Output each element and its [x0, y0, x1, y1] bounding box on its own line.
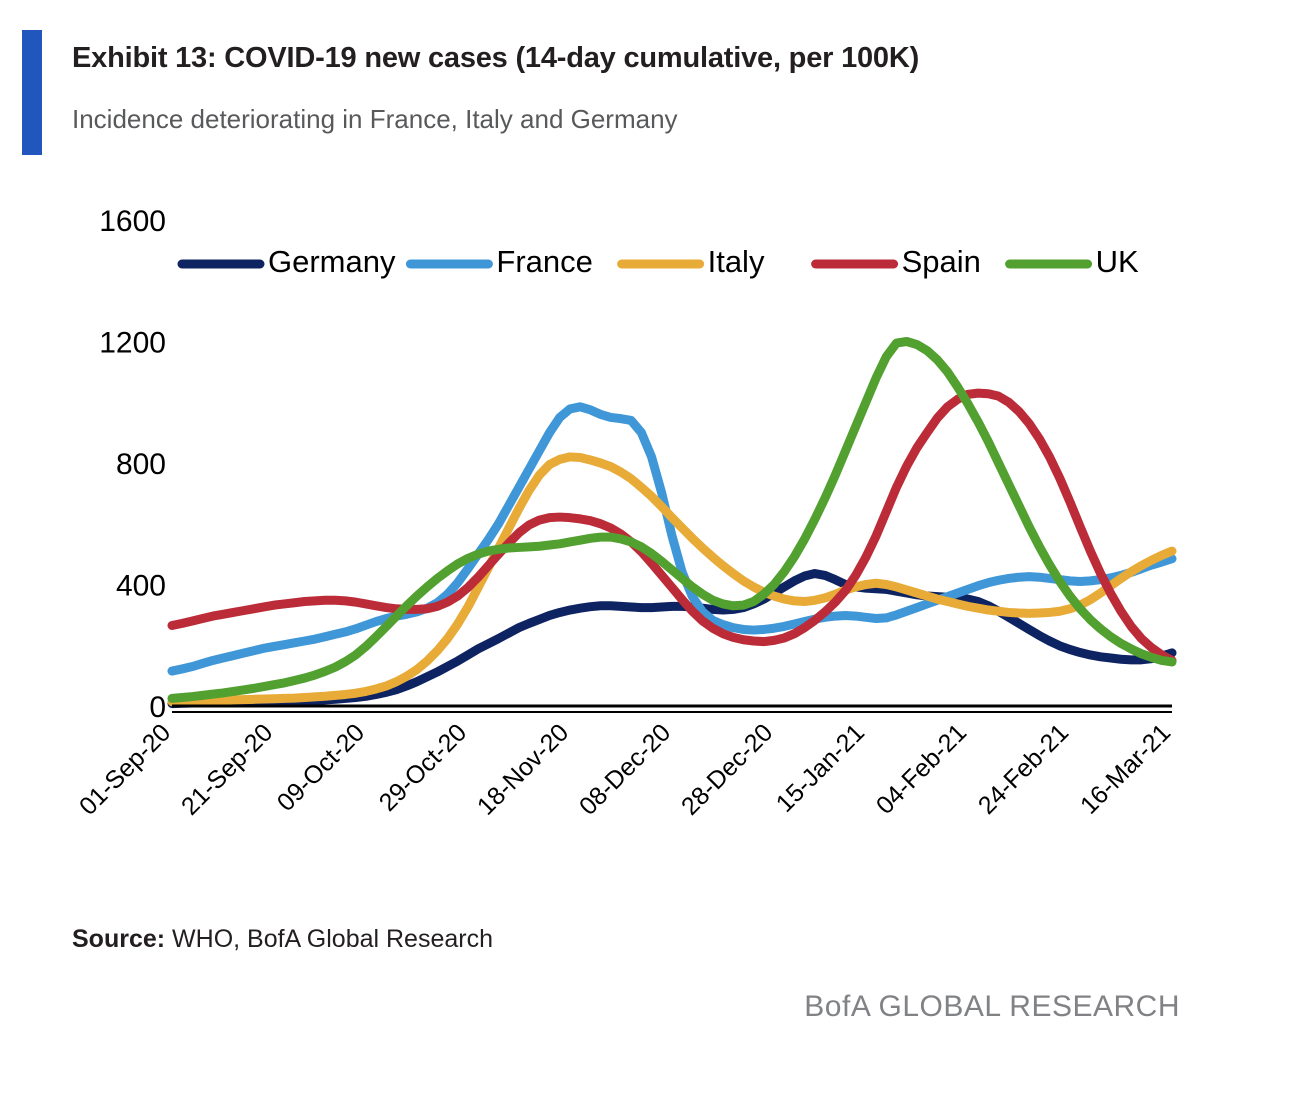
x-tick-label: 28-Dec-20 [676, 718, 778, 820]
legend-label-france: France [496, 244, 592, 279]
page-title: Exhibit 13: COVID-19 new cases (14-day c… [72, 42, 919, 75]
brand-footer: BofA GLOBAL RESEARCH [804, 990, 1180, 1024]
chart-legend: GermanyFranceItalySpainUK [182, 244, 1139, 279]
page-subtitle: Incidence deteriorating in France, Italy… [72, 104, 678, 135]
exhibit-page: Exhibit 13: COVID-19 new cases (14-day c… [0, 0, 1292, 1110]
x-tick-label: 04-Feb-21 [871, 718, 972, 819]
x-tick-label: 29-Oct-20 [374, 718, 472, 816]
x-tick-label: 24-Feb-21 [973, 718, 1074, 819]
legend-label-uk: UK [1096, 244, 1139, 279]
x-tick-label: 09-Oct-20 [272, 718, 370, 816]
chart-container: 040080012001600 GermanyFranceItalySpainU… [0, 180, 1292, 880]
x-tick-label: 21-Sep-20 [176, 718, 278, 820]
x-tick-label: 16-Mar-21 [1075, 718, 1176, 819]
source-label: Source: [72, 925, 165, 953]
x-tick-label: 15-Jan-21 [771, 718, 870, 817]
source-text: WHO, BofA Global Research [165, 925, 493, 953]
y-tick-label: 1600 [99, 205, 166, 238]
y-tick-label: 800 [116, 448, 166, 481]
legend-label-germany: Germany [268, 244, 396, 279]
y-axis-tick-labels: 040080012001600 [99, 205, 166, 724]
chart-series [172, 342, 1172, 704]
x-tick-label: 01-Sep-20 [74, 718, 176, 820]
legend-label-spain: Spain [902, 244, 981, 279]
y-tick-label: 1200 [99, 327, 166, 360]
legend-label-italy: Italy [708, 244, 765, 279]
accent-bar [22, 30, 42, 155]
series-line-france [172, 407, 1172, 671]
y-tick-label: 0 [149, 691, 166, 724]
source-line: Source: WHO, BofA Global Research [72, 925, 493, 954]
x-tick-label: 08-Dec-20 [574, 718, 676, 820]
x-axis-tick-labels: 01-Sep-2021-Sep-2009-Oct-2029-Oct-2018-N… [74, 718, 1176, 820]
y-tick-label: 400 [116, 570, 166, 603]
line-chart: 040080012001600 GermanyFranceItalySpainU… [0, 180, 1292, 880]
x-tick-label: 18-Nov-20 [472, 718, 574, 820]
x-axis-line [172, 706, 1172, 712]
